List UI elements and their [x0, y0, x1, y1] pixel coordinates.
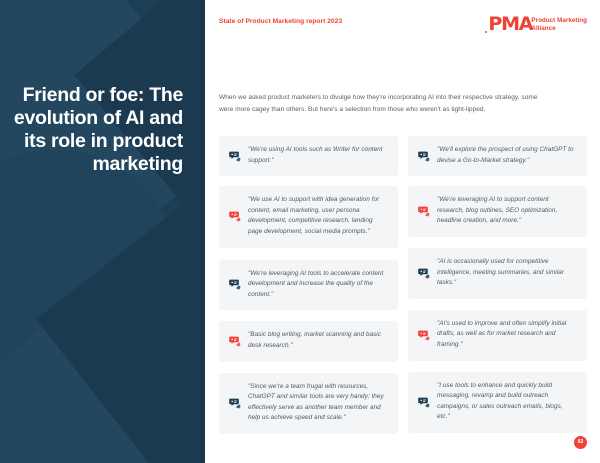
- chat-bubble-icon: [229, 335, 241, 347]
- chat-bubble-icon: [229, 397, 241, 409]
- quote-card: "AI's used to improve and often simplify…: [408, 310, 587, 361]
- logo-wordmark: Product Marketing Alliance: [531, 17, 587, 32]
- quote-column-1: "We're using AI tools such as Writer for…: [219, 136, 398, 434]
- quote-text: "I use tools to enhance and quickly buil…: [437, 381, 577, 423]
- logo-dot-icon: [485, 31, 487, 33]
- quote-card: "We'll explore the prospect of using Cha…: [408, 136, 587, 176]
- logo-letters: PMA: [488, 15, 532, 34]
- quote-card: "I use tools to enhance and quickly buil…: [408, 372, 587, 433]
- logo-wordmark-line2: Alliance: [531, 25, 587, 33]
- slide-page: Friend or foe: The evolution of AI and i…: [0, 0, 600, 463]
- quote-card: "Basic blog writing, market scanning and…: [219, 321, 398, 361]
- quote-card: "We use AI to support with idea generati…: [219, 186, 398, 247]
- pma-logo: PMA Product Marketing Alliance: [485, 15, 587, 34]
- quote-text: "Since we're a team frugal with resource…: [248, 382, 388, 424]
- panel-edge: [200, 0, 205, 463]
- intro-paragraph: When we asked product marketers to divul…: [219, 92, 549, 115]
- quote-card: "We're using AI tools such as Writer for…: [219, 136, 398, 176]
- quote-text: "We're leveraging AI to support content …: [437, 195, 577, 227]
- quote-card: "Since we're a team frugal with resource…: [219, 373, 398, 434]
- quote-text: "Basic blog writing, market scanning and…: [248, 330, 388, 351]
- quote-text: "We're leveraging AI tools to accelerate…: [248, 269, 388, 301]
- chat-bubble-icon: [418, 205, 430, 217]
- chat-bubble-icon: [418, 329, 430, 341]
- quote-text: "AI is occasionally used for competitive…: [437, 257, 577, 289]
- chat-bubble-icon: [229, 278, 241, 290]
- page-title: Friend or foe: The evolution of AI and i…: [10, 84, 183, 176]
- chat-bubble-icon: [418, 267, 430, 279]
- quote-card: "We're leveraging AI to support content …: [408, 186, 587, 237]
- quote-text: "We use AI to support with idea generati…: [248, 195, 388, 237]
- left-title-panel: Friend or foe: The evolution of AI and i…: [0, 0, 205, 463]
- quote-card: "We're leveraging AI tools to accelerate…: [219, 260, 398, 311]
- decorative-shape-b: [0, 150, 180, 400]
- chat-bubble-icon: [418, 150, 430, 162]
- chat-bubble-icon: [229, 150, 241, 162]
- decorative-shape-c: [0, 279, 205, 463]
- quote-card: "AI is occasionally used for competitive…: [408, 248, 587, 299]
- quote-columns: "We're using AI tools such as Writer for…: [219, 136, 587, 434]
- decorative-shape-e: [36, 196, 205, 463]
- quote-column-2: "We'll explore the prospect of using Cha…: [408, 136, 587, 434]
- quote-text: "AI's used to improve and often simplify…: [437, 319, 577, 351]
- chat-bubble-icon: [229, 210, 241, 222]
- logo-wordmark-line1: Product Marketing: [531, 17, 587, 25]
- pma-logo-mark: PMA: [485, 15, 527, 34]
- chat-bubble-icon: [418, 396, 430, 408]
- quote-text: "We're using AI tools such as Writer for…: [248, 145, 388, 166]
- page-number-badge: 83: [574, 436, 587, 449]
- report-label: State of Product Marketing report 2023: [219, 18, 342, 25]
- quote-text: "We'll explore the prospect of using Cha…: [437, 145, 577, 166]
